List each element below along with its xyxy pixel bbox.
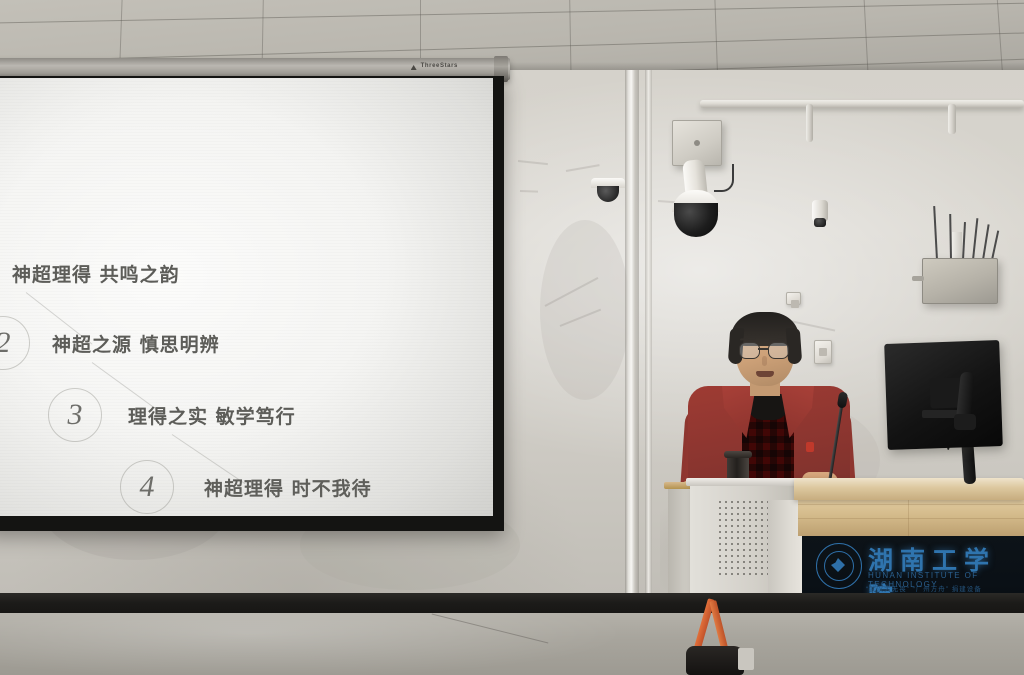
wood-grain	[798, 504, 1024, 505]
monitor-arm-joint[interactable]	[954, 414, 976, 430]
ceiling-grid-line	[0, 0, 1024, 24]
wall-scuff	[520, 190, 538, 193]
wall-scuff	[566, 164, 600, 172]
lapel-badge	[806, 442, 814, 452]
wall-socket[interactable]	[786, 292, 801, 305]
jammer-mount	[952, 232, 962, 260]
camera-cable	[714, 164, 734, 192]
conduit-pipe	[700, 100, 1024, 108]
wall-stain	[540, 220, 630, 400]
university-slogan: “武汉大无畏” “广州方舟” 捐建设备	[866, 583, 982, 593]
signal-jammer-box	[922, 258, 998, 304]
presenter-mouth	[756, 371, 774, 377]
wood-grain	[908, 494, 909, 536]
wall-scuff	[518, 160, 548, 165]
glasses-bridge	[758, 348, 768, 350]
bag-on-floor	[686, 646, 744, 675]
glasses-icon	[739, 342, 760, 359]
bag-tag	[738, 648, 754, 670]
wall-scuff	[545, 277, 599, 307]
conduit-pipe	[806, 104, 813, 142]
lecture-hall-photo: ThreeStars 1 神超理得 共鸣之韵 2 神超之源 慎思明辨 3 理得之…	[0, 0, 1024, 675]
projector-brand-label: ThreeStars	[421, 63, 458, 69]
wall-seam-column	[625, 70, 639, 605]
glasses-icon	[768, 342, 789, 359]
bullet-camera-icon	[814, 218, 826, 227]
podium-wood-front	[798, 494, 1024, 536]
speaker-grille	[718, 500, 770, 578]
wall-scuff	[560, 309, 602, 327]
jammer-connector	[912, 276, 924, 281]
wall-baseboard	[0, 593, 1024, 615]
coffee-cup-lid[interactable]	[724, 451, 752, 458]
concrete-floor	[0, 613, 1024, 675]
presenter-nose	[762, 356, 767, 366]
wall-seam-column	[645, 70, 652, 605]
screen-vignette	[0, 78, 493, 516]
wood-grain	[798, 518, 1024, 519]
podium-desk-surface[interactable]	[794, 478, 1024, 500]
presenter-inner-collar	[748, 394, 788, 420]
projection-screen-surface: 1 神超理得 共鸣之韵 2 神超之源 慎思明辨 3 理得之实 敏学笃行 4 神超…	[0, 78, 493, 516]
university-emblem-icon	[816, 543, 862, 589]
conduit-pipe	[948, 104, 956, 134]
